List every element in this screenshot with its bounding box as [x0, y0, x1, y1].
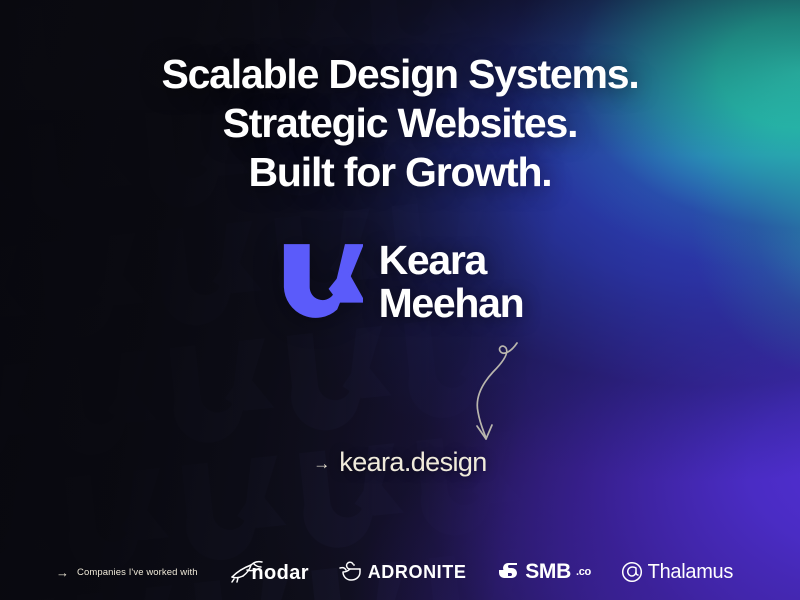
client-logos-footer: → Companies I've worked with	[0, 544, 800, 600]
brand-name-line-2: Meehan	[379, 282, 524, 325]
headline-line-1: Scalable Design Systems.	[20, 50, 780, 99]
duck-outline-icon	[339, 561, 363, 583]
client-name-adronite: ADRONITE	[368, 562, 467, 583]
brand-name-line-1: Keara	[379, 239, 524, 282]
website-url-text[interactable]: keara.design	[339, 447, 486, 478]
arrow-right-icon: →	[313, 455, 330, 472]
at-spiral-icon	[621, 561, 643, 583]
footer-label: → Companies I've worked with	[56, 566, 198, 579]
client-name-nodar: nodar	[251, 562, 309, 585]
brand-name: Keara Meehan	[379, 239, 524, 325]
keara-k-logo-icon	[277, 239, 363, 325]
client-name-thalamus: Thalamus	[648, 561, 733, 584]
brand-lockup: Keara Meehan	[277, 239, 524, 325]
s-blocks-icon	[496, 560, 520, 584]
client-logo-nodar: nodar	[230, 559, 309, 585]
headline-line-2: Strategic Websites.	[20, 99, 780, 148]
headline-line-3: Built for Growth.	[20, 148, 780, 197]
website-url-row[interactable]: → keara.design	[0, 447, 800, 478]
promo-banner: Scalable Design Systems. Strategic Websi…	[0, 0, 800, 600]
headline: Scalable Design Systems. Strategic Websi…	[20, 50, 780, 197]
client-name-smb-suffix: .co	[576, 566, 591, 578]
client-logo-adronite: ADRONITE	[339, 561, 467, 583]
client-name-smb: SMB	[525, 560, 571, 584]
arrow-right-icon: →	[56, 566, 69, 579]
hand-drawn-squiggle-arrow-icon	[455, 340, 535, 452]
footer-label-text: Companies I've worked with	[77, 567, 198, 578]
client-logo-thalamus: Thalamus	[621, 561, 733, 584]
client-logo-list: nodar ADRONITE	[198, 559, 748, 585]
client-logo-smb: SMB .co	[496, 560, 591, 584]
